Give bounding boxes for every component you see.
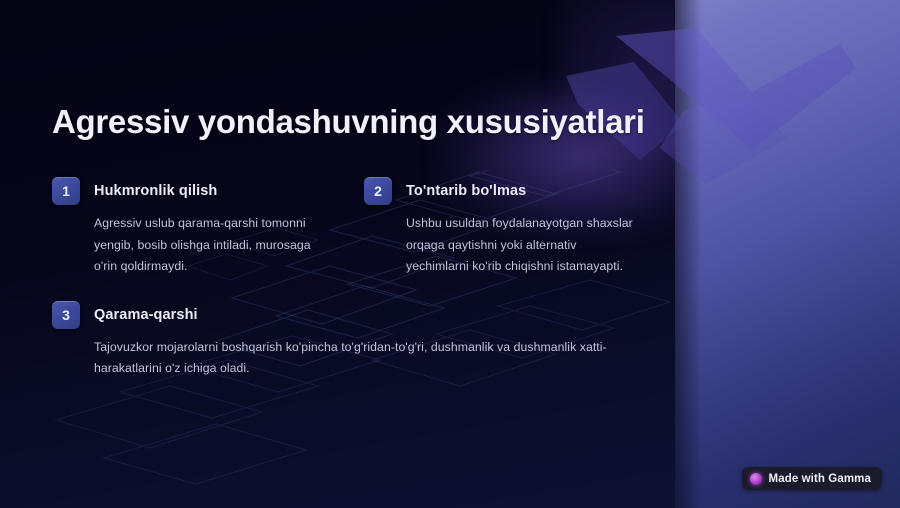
slide-content: Agressiv yondashuvning xususiyatlari 1 H… <box>0 0 900 508</box>
feature-cards: 1 Hukmronlik qilish Agressiv uslub qaram… <box>52 177 642 380</box>
feature-card-2-number-badge: 2 <box>364 177 392 205</box>
feature-card-3: 3 Qarama-qarshi Tajovuzkor mojarolarni b… <box>52 301 642 380</box>
cards-top-row: 1 Hukmronlik qilish Agressiv uslub qaram… <box>52 177 642 278</box>
feature-card-2: 2 To'ntarib bo'lmas Ushbu usuldan foydal… <box>364 177 642 278</box>
feature-card-3-title: Qarama-qarshi <box>94 307 198 323</box>
feature-card-1-header: 1 Hukmronlik qilish <box>52 177 330 205</box>
feature-card-2-header: 2 To'ntarib bo'lmas <box>364 177 642 205</box>
feature-card-2-body: Ushbu usuldan foydalanayotgan shaxslar o… <box>364 213 642 278</box>
feature-card-3-header: 3 Qarama-qarshi <box>52 301 642 329</box>
feature-card-3-number-badge: 3 <box>52 301 80 329</box>
slide-canvas: Agressiv yondashuvning xususiyatlari 1 H… <box>0 0 900 508</box>
page-title: Agressiv yondashuvning xususiyatlari <box>52 103 645 141</box>
feature-card-1-title: Hukmronlik qilish <box>94 183 217 199</box>
feature-card-1: 1 Hukmronlik qilish Agressiv uslub qaram… <box>52 177 330 278</box>
made-with-gamma-label: Made with Gamma <box>769 473 871 485</box>
feature-card-1-number-badge: 1 <box>52 177 80 205</box>
made-with-gamma-badge[interactable]: Made with Gamma <box>742 467 882 490</box>
feature-card-2-title: To'ntarib bo'lmas <box>406 183 526 199</box>
feature-card-1-body: Agressiv uslub qarama-qarshi tomonni yen… <box>52 213 330 278</box>
feature-card-3-body: Tajovuzkor mojarolarni boshqarish ko'pin… <box>52 337 642 380</box>
gamma-logo-icon <box>750 473 762 485</box>
